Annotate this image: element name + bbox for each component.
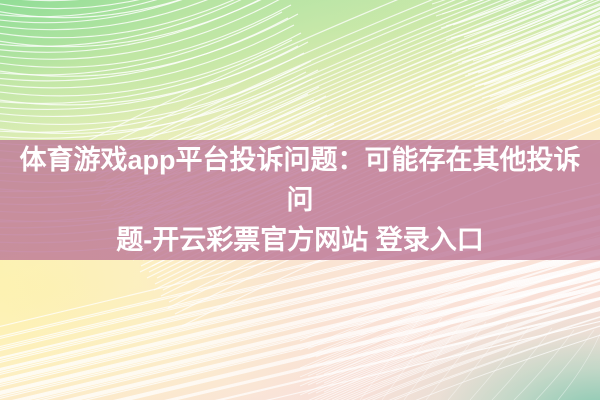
title-band: 体育游戏app平台投诉问题：可能存在其他投诉问 题-开云彩票官方网站 登录入口	[0, 140, 600, 260]
page-title: 体育游戏app平台投诉问题：可能存在其他投诉问 题-开云彩票官方网站 登录入口	[8, 140, 592, 260]
promotional-banner: 体育游戏app平台投诉问题：可能存在其他投诉问 题-开云彩票官方网站 登录入口	[0, 0, 600, 400]
page-title-line-2: 题-开云彩票官方网站 登录入口	[8, 220, 592, 260]
page-title-line-1: 体育游戏app平台投诉问题：可能存在其他投诉问	[8, 140, 592, 220]
